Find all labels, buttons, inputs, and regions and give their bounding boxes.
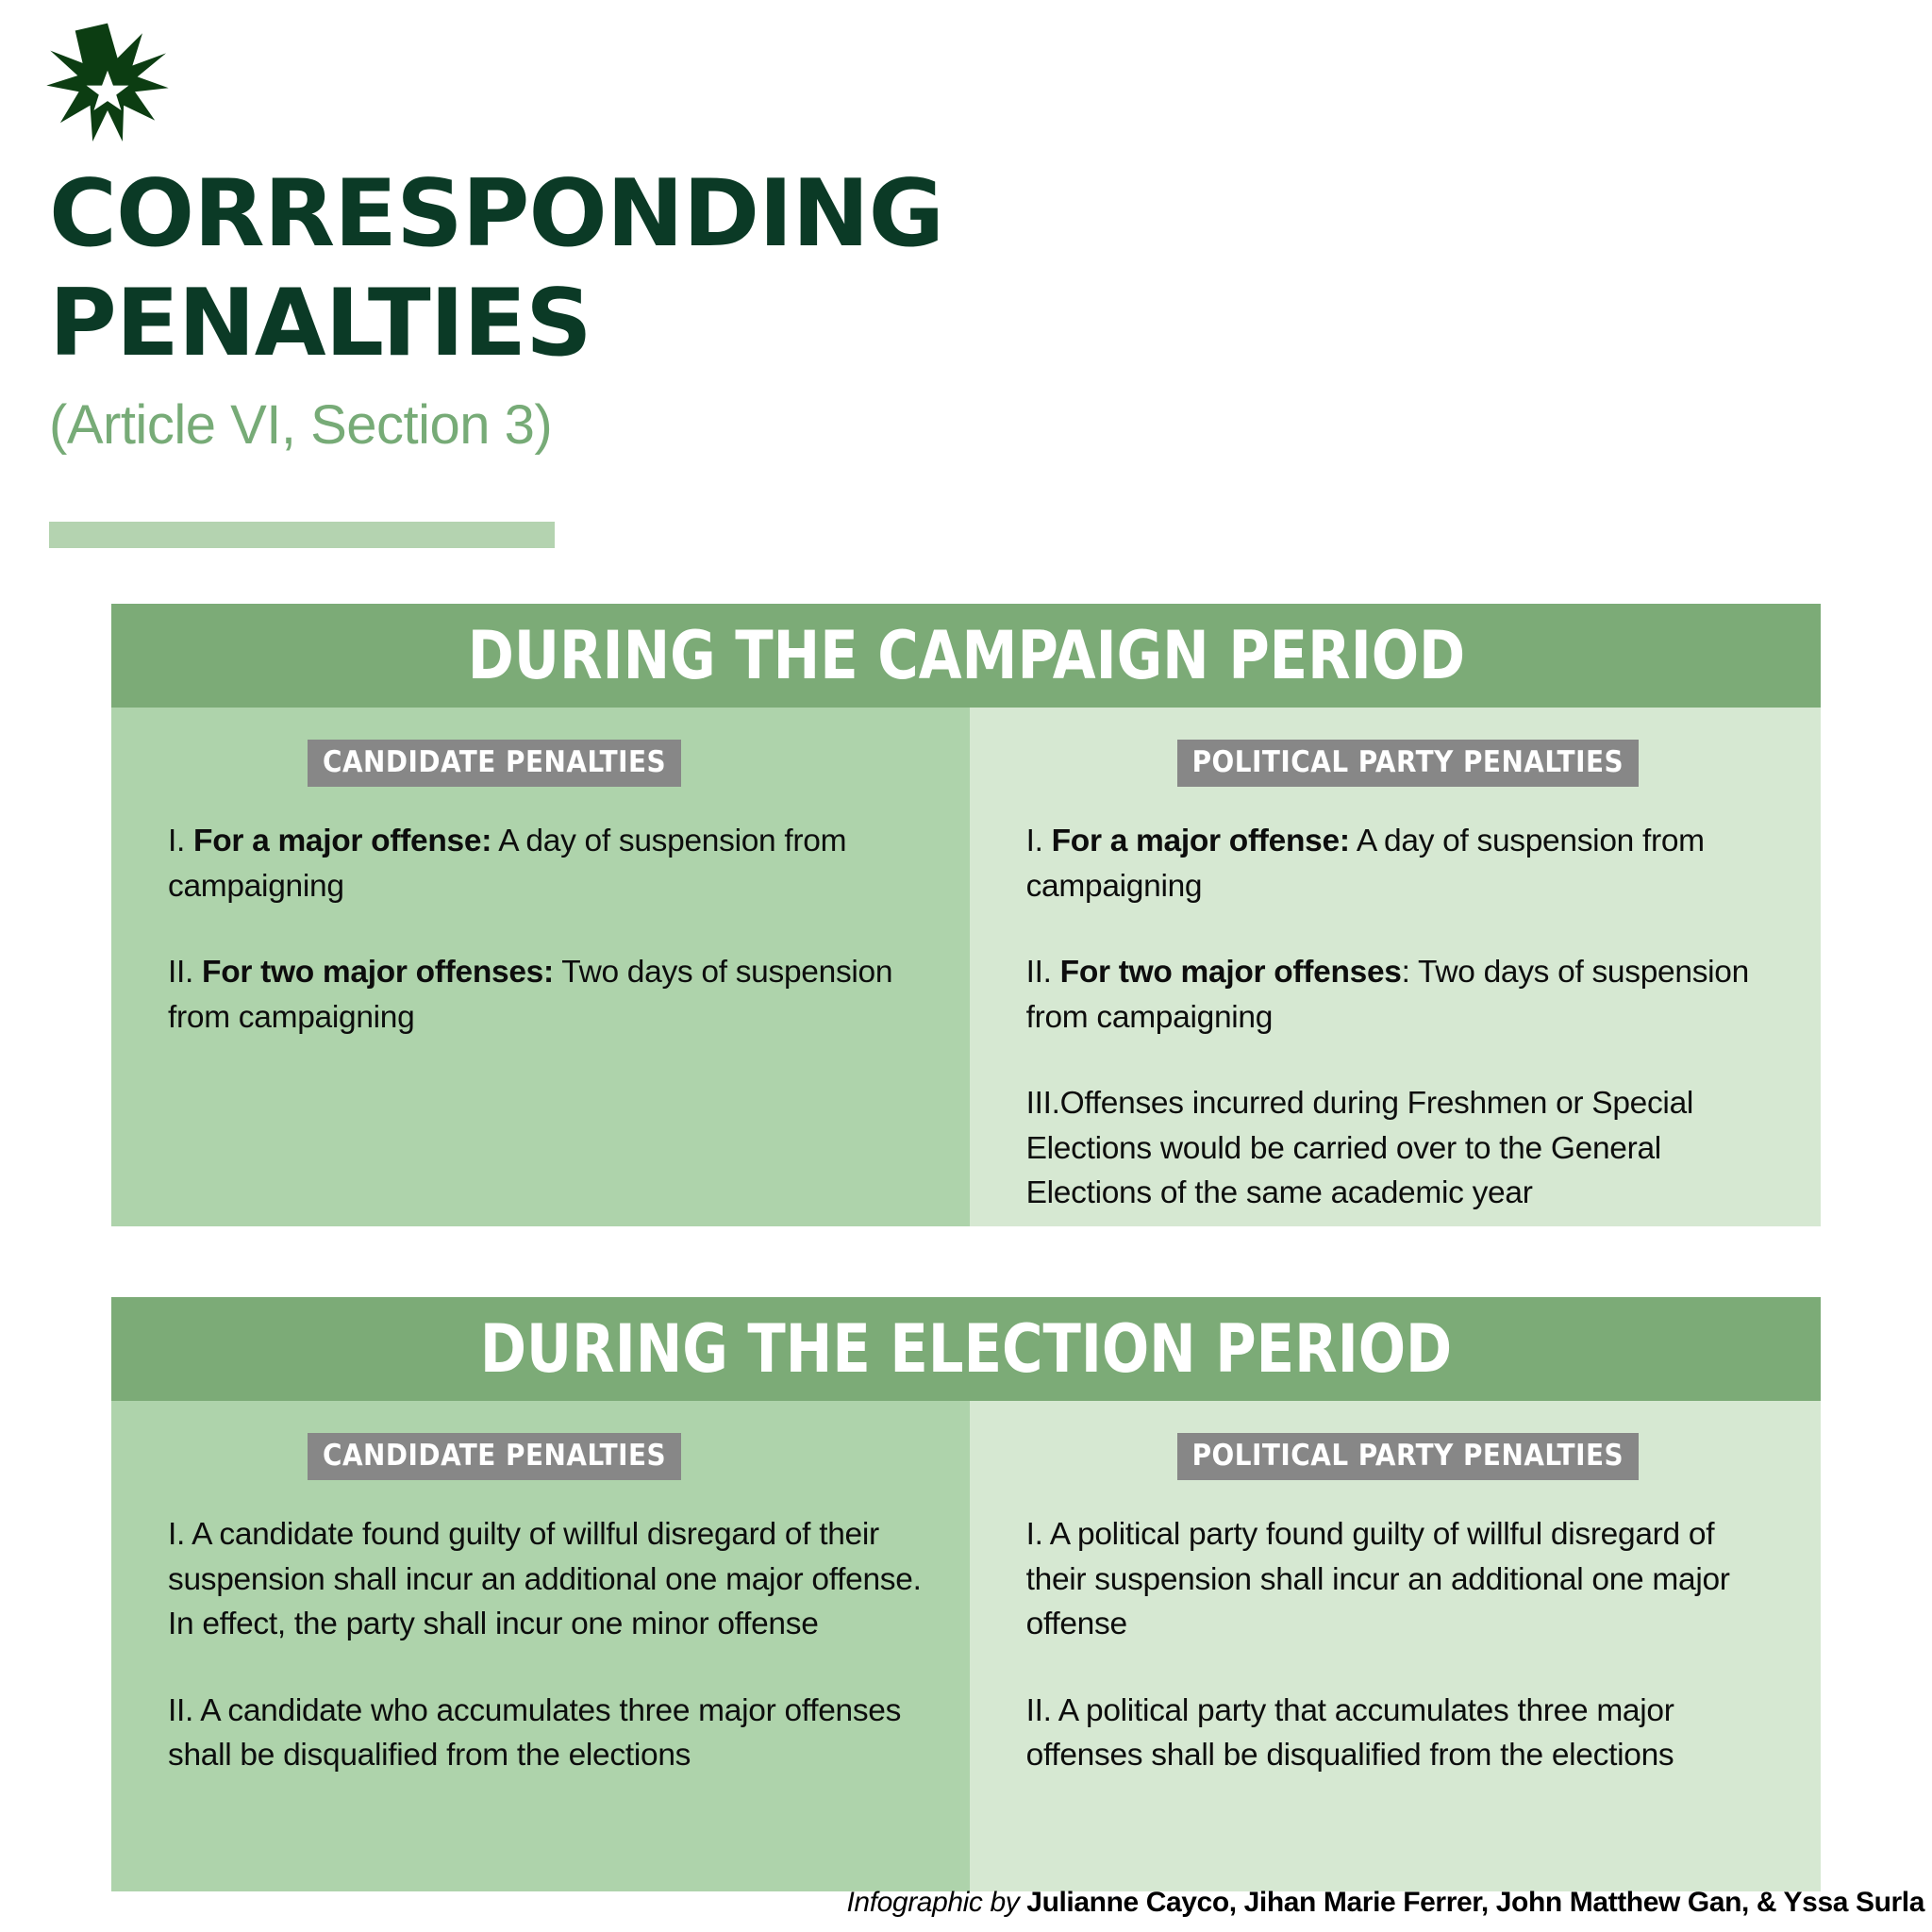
item-numeral: I. <box>168 824 185 858</box>
election-party-badge-row: POLITICAL PARTY PENALTIES <box>1026 1433 1777 1480</box>
campaign-candidate-badge-row: CANDIDATE PENALTIES <box>168 740 926 787</box>
section-election-header-bar: DURING THE ELECTION PERIOD <box>111 1297 1821 1401</box>
footer-credits-names: Julianne Cayco, Jihan Marie Ferrer, John… <box>1026 1887 1924 1918</box>
item-numeral: III. <box>1026 1086 1060 1121</box>
election-candidate-badge-row: CANDIDATE PENALTIES <box>168 1433 926 1480</box>
list-item: I. For a major offense: A day of suspens… <box>1026 819 1777 908</box>
item-text: A political party found guilty of willfu… <box>1026 1517 1730 1641</box>
campaign-candidate-badge: CANDIDATE PENALTIES <box>308 740 681 787</box>
page-subtitle: (Article VI, Section 3) <box>49 393 1181 457</box>
section-election-header-title: DURING THE ELECTION PERIOD <box>480 1316 1452 1382</box>
campaign-party-badge-row: POLITICAL PARTY PENALTIES <box>1026 740 1777 787</box>
election-political-party-badge: POLITICAL PARTY PENALTIES <box>1177 1433 1639 1480</box>
item-numeral: II. <box>168 1693 193 1728</box>
list-item: II. A political party that accumulates t… <box>1026 1689 1777 1778</box>
item-text: Offenses incurred during Freshmen or Spe… <box>1026 1086 1693 1210</box>
item-numeral: II. <box>168 955 193 990</box>
election-candidate-column: CANDIDATE PENALTIES I. A candidate found… <box>111 1401 970 1891</box>
list-item: II. A candidate who accumulates three ma… <box>168 1689 926 1778</box>
section-election-body: CANDIDATE PENALTIES I. A candidate found… <box>111 1401 1821 1891</box>
item-lead: For two major offenses: <box>202 955 554 990</box>
title-block: CORRESPONDING PENALTIES (Article VI, Sec… <box>49 160 1181 457</box>
list-item: I. For a major offense: A day of suspens… <box>168 819 926 908</box>
item-lead: For a major offense: <box>193 824 491 858</box>
item-text: A political party that accumulates three… <box>1026 1693 1674 1774</box>
item-numeral: I. <box>1026 824 1043 858</box>
section-campaign-header-bar: DURING THE CAMPAIGN PERIOD <box>111 604 1821 708</box>
item-text: A candidate found guilty of willful disr… <box>168 1517 922 1641</box>
item-numeral: I. <box>1026 1517 1043 1552</box>
list-item: II. For two major offenses: Two days of … <box>168 950 926 1040</box>
section-campaign-body: CANDIDATE PENALTIES I. For a major offen… <box>111 708 1821 1226</box>
item-lead: For two major offenses <box>1060 955 1402 990</box>
campaign-political-party-badge: POLITICAL PARTY PENALTIES <box>1177 740 1639 787</box>
item-text: A candidate who accumulates three major … <box>168 1693 901 1774</box>
item-numeral: II. <box>1026 955 1052 990</box>
footer-prefix: Infographic by <box>846 1887 1026 1918</box>
section-election-period: DURING THE ELECTION PERIOD CANDIDATE PEN… <box>111 1297 1821 1891</box>
list-item: II. For two major offenses: Two days of … <box>1026 950 1777 1040</box>
star-burst-icon <box>45 21 170 145</box>
list-item: I. A candidate found guilty of willful d… <box>168 1512 926 1647</box>
section-campaign-period: DURING THE CAMPAIGN PERIOD CANDIDATE PEN… <box>111 604 1821 1226</box>
list-item: III.Offenses incurred during Freshmen or… <box>1026 1081 1777 1216</box>
election-political-party-column: POLITICAL PARTY PENALTIES I. A political… <box>970 1401 1821 1891</box>
campaign-candidate-column: CANDIDATE PENALTIES I. For a major offen… <box>111 708 970 1226</box>
footer-credit: Infographic by Julianne Cayco, Jihan Mar… <box>0 1887 1932 1919</box>
list-item: I. A political party found guilty of wil… <box>1026 1512 1777 1647</box>
item-numeral: I. <box>168 1517 185 1552</box>
campaign-political-party-column: POLITICAL PARTY PENALTIES I. For a major… <box>970 708 1821 1226</box>
page-title: CORRESPONDING PENALTIES <box>49 160 1181 378</box>
item-lead: For a major offense: <box>1052 824 1350 858</box>
title-divider-rule <box>49 522 555 548</box>
item-numeral: II. <box>1026 1693 1052 1728</box>
election-candidate-badge: CANDIDATE PENALTIES <box>308 1433 681 1480</box>
section-campaign-header-title: DURING THE CAMPAIGN PERIOD <box>467 623 1464 689</box>
